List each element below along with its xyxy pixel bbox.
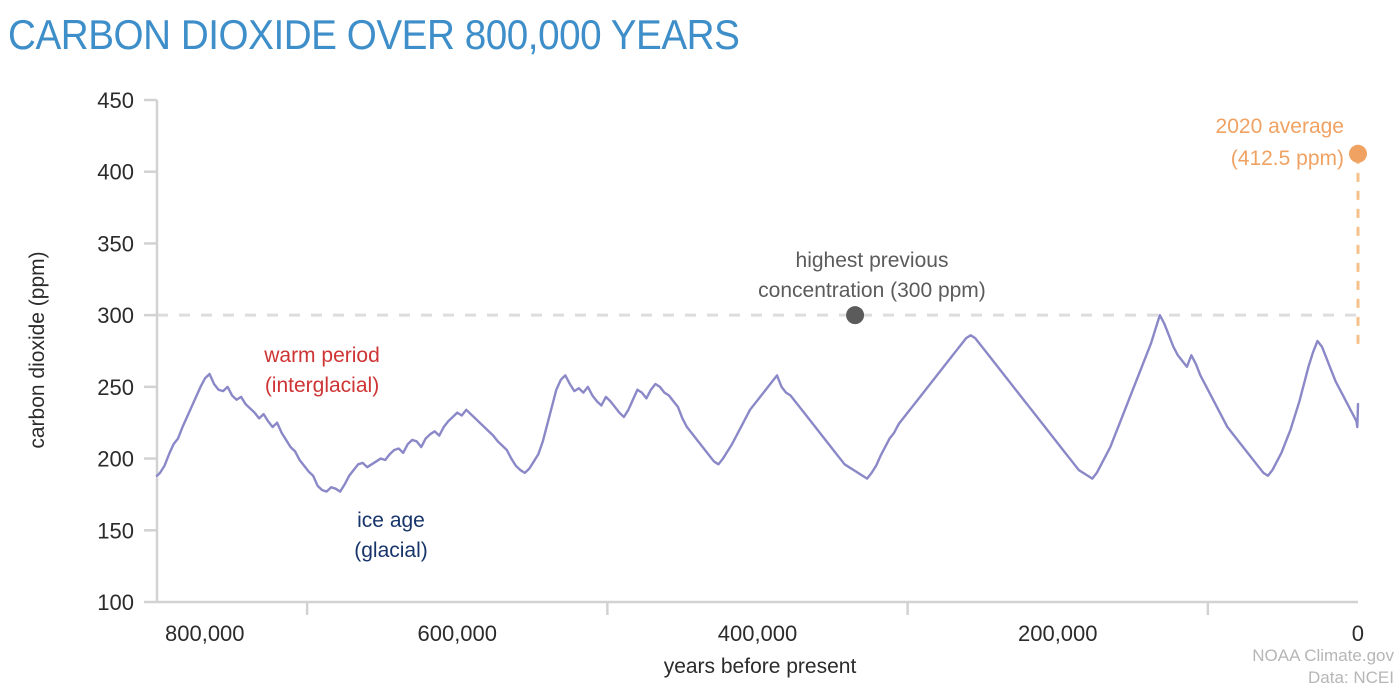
- x-tick-label: 600,000: [417, 621, 497, 646]
- annotation-highest-line1: highest previous: [796, 249, 949, 272]
- co2-polyline: [157, 315, 1358, 491]
- annotation-highest-line2: concentration (300 ppm): [758, 279, 986, 302]
- y-axis-ticks: 100150200250300350400450: [97, 88, 157, 615]
- y-tick-label: 450: [97, 88, 134, 113]
- y-tick-label: 350: [97, 231, 134, 256]
- annotation-iceage-line2: (glacial): [354, 539, 428, 562]
- y-tick-label: 250: [97, 375, 134, 400]
- chart-canvas: 100150200250300350400450 800,000600,0004…: [0, 0, 1400, 700]
- y-tick-label: 150: [97, 518, 134, 543]
- co2-chart: CARBON DIOXIDE OVER 800,000 YEARS 100150…: [0, 0, 1400, 700]
- marker-highest-previous: [846, 306, 864, 324]
- y-tick-label: 400: [97, 160, 134, 185]
- marker-modern-2020: [1349, 145, 1367, 163]
- annotation-warm-line1: warm period: [263, 344, 380, 367]
- y-axis-title: carbon dioxide (ppm): [26, 251, 49, 448]
- reference-lines: [157, 154, 1358, 344]
- x-tick-label: 200,000: [1018, 621, 1098, 646]
- annotation-warm-line2: (interglacial): [265, 374, 379, 397]
- annotation-2020-line2: (412.5 ppm): [1231, 147, 1344, 170]
- x-axis-ticks: 800,000600,000400,000200,0000: [165, 602, 1364, 646]
- x-tick-label: 800,000: [165, 621, 245, 646]
- x-tick-label: 400,000: [718, 621, 798, 646]
- x-axis-title: years before present: [664, 655, 857, 678]
- annotation-iceage-line1: ice age: [357, 509, 425, 532]
- y-tick-label: 300: [97, 303, 134, 328]
- co2-series-line: [157, 315, 1358, 491]
- annotation-2020-line1: 2020 average: [1216, 115, 1344, 138]
- y-tick-label: 200: [97, 447, 134, 472]
- credit-source: NOAA Climate.gov: [1252, 646, 1394, 665]
- x-tick-label: 0: [1352, 621, 1364, 646]
- y-tick-label: 100: [97, 590, 134, 615]
- credit-data: Data: NCEI: [1308, 668, 1394, 687]
